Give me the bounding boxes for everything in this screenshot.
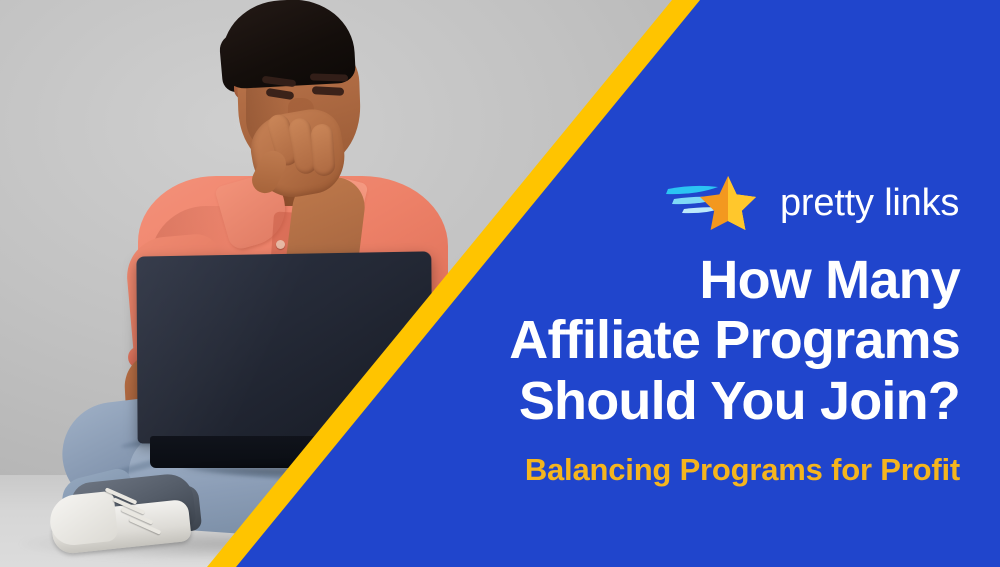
headline-line-3: Should You Join?: [340, 371, 960, 431]
brand-logo[interactable]: pretty links: [660, 172, 972, 234]
finger-3: [310, 123, 336, 176]
blog-header-banner: pretty links How Many Affiliate Programs…: [0, 0, 1000, 567]
star-with-speed-streaks-icon: [660, 173, 768, 233]
sneaker-toe-cap: [48, 491, 119, 548]
shirt-button-top: [276, 240, 285, 249]
page-subtitle: Balancing Programs for Profit: [340, 452, 960, 488]
headline-line-2: Affiliate Programs: [340, 310, 960, 370]
brand-wordmark: pretty links: [780, 184, 959, 222]
headline-line-1: How Many: [340, 250, 960, 310]
page-title: How Many Affiliate Programs Should You J…: [340, 250, 960, 431]
eye-right: [312, 86, 344, 96]
eyebrow-right: [310, 73, 348, 81]
